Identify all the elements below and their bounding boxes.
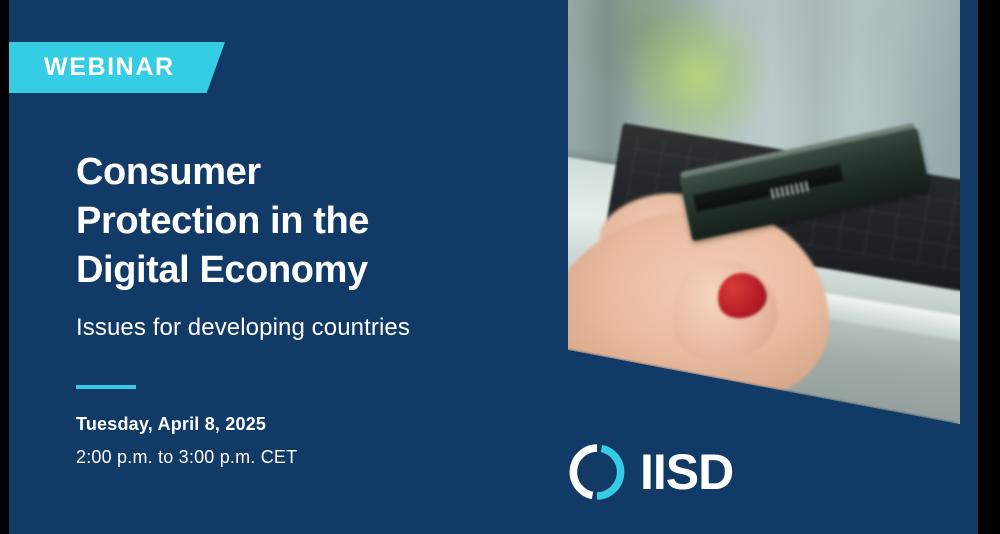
event-time: 2:00 p.m. to 3:00 p.m. CET (76, 447, 297, 468)
title-line-3: Digital Economy (76, 246, 526, 295)
event-date: Tuesday, April 8, 2025 (76, 414, 266, 435)
page-title: Consumer Protection in the Digital Econo… (76, 148, 526, 295)
title-line-2: Protection in the (76, 197, 526, 246)
hero-photo (568, 0, 960, 424)
iisd-ring-icon (568, 443, 626, 501)
credit-card-stripe (692, 164, 843, 211)
iisd-wordmark: IISD (640, 447, 733, 497)
iisd-logo: IISD (568, 443, 733, 501)
photo-background (568, 0, 960, 424)
webinar-promo-graphic: WEBINAR Consumer Protection in the Digit… (0, 0, 1000, 534)
title-line-1: Consumer (76, 148, 526, 197)
webinar-badge-label: WEBINAR (44, 53, 175, 82)
accent-divider (76, 385, 136, 389)
webinar-badge: WEBINAR (9, 42, 225, 93)
page-subtitle: Issues for developing countries (76, 314, 410, 342)
